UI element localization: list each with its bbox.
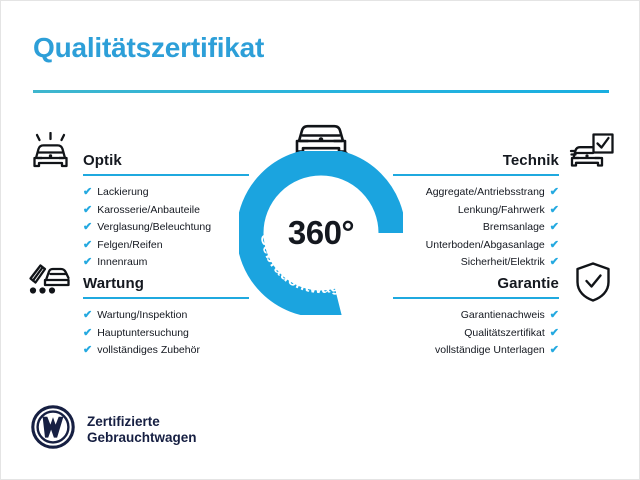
- certificate-page: Qualitätszertifikat: [0, 0, 640, 480]
- section-header-garantie: Garantie: [393, 268, 559, 294]
- car-service-tool-icon: [25, 259, 71, 301]
- list-item-label: Felgen/Reifen: [97, 237, 162, 255]
- list-item-label: Qualitätszertifikat: [464, 325, 545, 343]
- vw-logo: [31, 405, 75, 454]
- section-optik: Optik ✔Lackierung ✔Karosserie/Anbauteile…: [83, 145, 249, 272]
- list-item-label: vollständige Unterlagen: [435, 342, 545, 360]
- check-icon: ✔: [83, 328, 92, 339]
- check-icon: ✔: [550, 240, 559, 251]
- check-icon: ✔: [83, 310, 92, 321]
- section-divider-wartung: [83, 297, 249, 299]
- check-icon: ✔: [83, 345, 92, 356]
- list-item: Garantienachweis✔: [393, 307, 559, 325]
- list-item: ✔Felgen/Reifen: [83, 237, 249, 255]
- list-item: ✔Lackierung: [83, 184, 249, 202]
- section-divider-technik: [393, 174, 559, 176]
- section-garantie: Garantie Garantienachweis✔ Qualitätszert…: [393, 268, 559, 360]
- car-checkbox-icon: [569, 132, 615, 174]
- list-item: Aggregate/Antriebsstrang✔: [393, 184, 559, 202]
- section-divider-garantie: [393, 297, 559, 299]
- list-item: ✔Karosserie/Anbauteile: [83, 202, 249, 220]
- list-item: ✔vollständiges Zubehör: [83, 342, 249, 360]
- list-item-label: vollständiges Zubehör: [97, 342, 200, 360]
- footer: Zertifizierte Gebrauchtwagen: [31, 405, 197, 454]
- section-header-technik: Technik: [393, 145, 559, 171]
- list-item: vollständige Unterlagen✔: [393, 342, 559, 360]
- check-icon: ✔: [550, 222, 559, 233]
- list-item-label: Karosserie/Anbauteile: [97, 202, 200, 220]
- list-item: Bremsanlage✔: [393, 219, 559, 237]
- list-item: Unterboden/Abgasanlage✔: [393, 237, 559, 255]
- section-title-optik: Optik: [83, 152, 122, 169]
- header-divider: [33, 90, 609, 93]
- check-icon: ✔: [550, 345, 559, 356]
- section-technik: Technik Aggregate/Antriebsstrang✔ Lenkun…: [393, 145, 559, 272]
- list-item: Qualitätszertifikat✔: [393, 325, 559, 343]
- list-item: Lenkung/Fahrwerk✔: [393, 202, 559, 220]
- check-icon: ✔: [83, 187, 92, 198]
- list-item: ✔Wartung/Inspektion: [83, 307, 249, 325]
- check-icon: ✔: [550, 257, 559, 268]
- checklist-garantie: Garantienachweis✔ Qualitätszertifikat✔ v…: [393, 307, 559, 360]
- section-title-garantie: Garantie: [497, 275, 559, 292]
- section-title-wartung: Wartung: [83, 275, 144, 292]
- list-item-label: Wartung/Inspektion: [97, 307, 187, 325]
- list-item-label: Aggregate/Antriebsstrang: [426, 184, 545, 202]
- list-item: ✔Hauptuntersuchung: [83, 325, 249, 343]
- check-icon: ✔: [550, 205, 559, 216]
- list-item-label: Bremsanlage: [483, 219, 545, 237]
- car-shine-icon: [28, 132, 74, 174]
- list-item-label: Verglasung/Beleuchtung: [97, 219, 211, 237]
- list-item-label: Garantienachweis: [461, 307, 545, 325]
- section-wartung: Wartung ✔Wartung/Inspektion ✔Hauptunters…: [83, 268, 249, 360]
- footer-line-2: Gebrauchtwagen: [87, 430, 197, 445]
- badge-ring: Gebrauchtwagen-Check: [239, 151, 403, 315]
- section-title-technik: Technik: [503, 152, 559, 169]
- section-header-wartung: Wartung: [83, 268, 249, 294]
- list-item-label: Unterboden/Abgasanlage: [426, 237, 545, 255]
- check-icon: ✔: [550, 328, 559, 339]
- shield-check-icon: [573, 260, 613, 304]
- section-divider-optik: [83, 174, 249, 176]
- page-title: Qualitätszertifikat: [33, 32, 264, 64]
- list-item: ✔Verglasung/Beleuchtung: [83, 219, 249, 237]
- check-icon: ✔: [550, 187, 559, 198]
- checklist-wartung: ✔Wartung/Inspektion ✔Hauptuntersuchung ✔…: [83, 307, 249, 360]
- check-icon: ✔: [83, 205, 92, 216]
- section-header-optik: Optik: [83, 145, 249, 171]
- check-icon: ✔: [550, 310, 559, 321]
- check-icon: ✔: [83, 222, 92, 233]
- footer-line-1: Zertifizierte: [87, 414, 160, 429]
- footer-text: Zertifizierte Gebrauchtwagen: [87, 414, 197, 446]
- checklist-optik: ✔Lackierung ✔Karosserie/Anbauteile ✔Verg…: [83, 184, 249, 272]
- list-item-label: Hauptuntersuchung: [97, 325, 189, 343]
- list-item-label: Lenkung/Fahrwerk: [458, 202, 545, 220]
- checklist-technik: Aggregate/Antriebsstrang✔ Lenkung/Fahrwe…: [393, 184, 559, 272]
- check-icon: ✔: [83, 257, 92, 268]
- list-item-label: Lackierung: [97, 184, 148, 202]
- check-icon: ✔: [83, 240, 92, 251]
- 360-badge: Gebrauchtwagen-Check 360°: [239, 151, 403, 315]
